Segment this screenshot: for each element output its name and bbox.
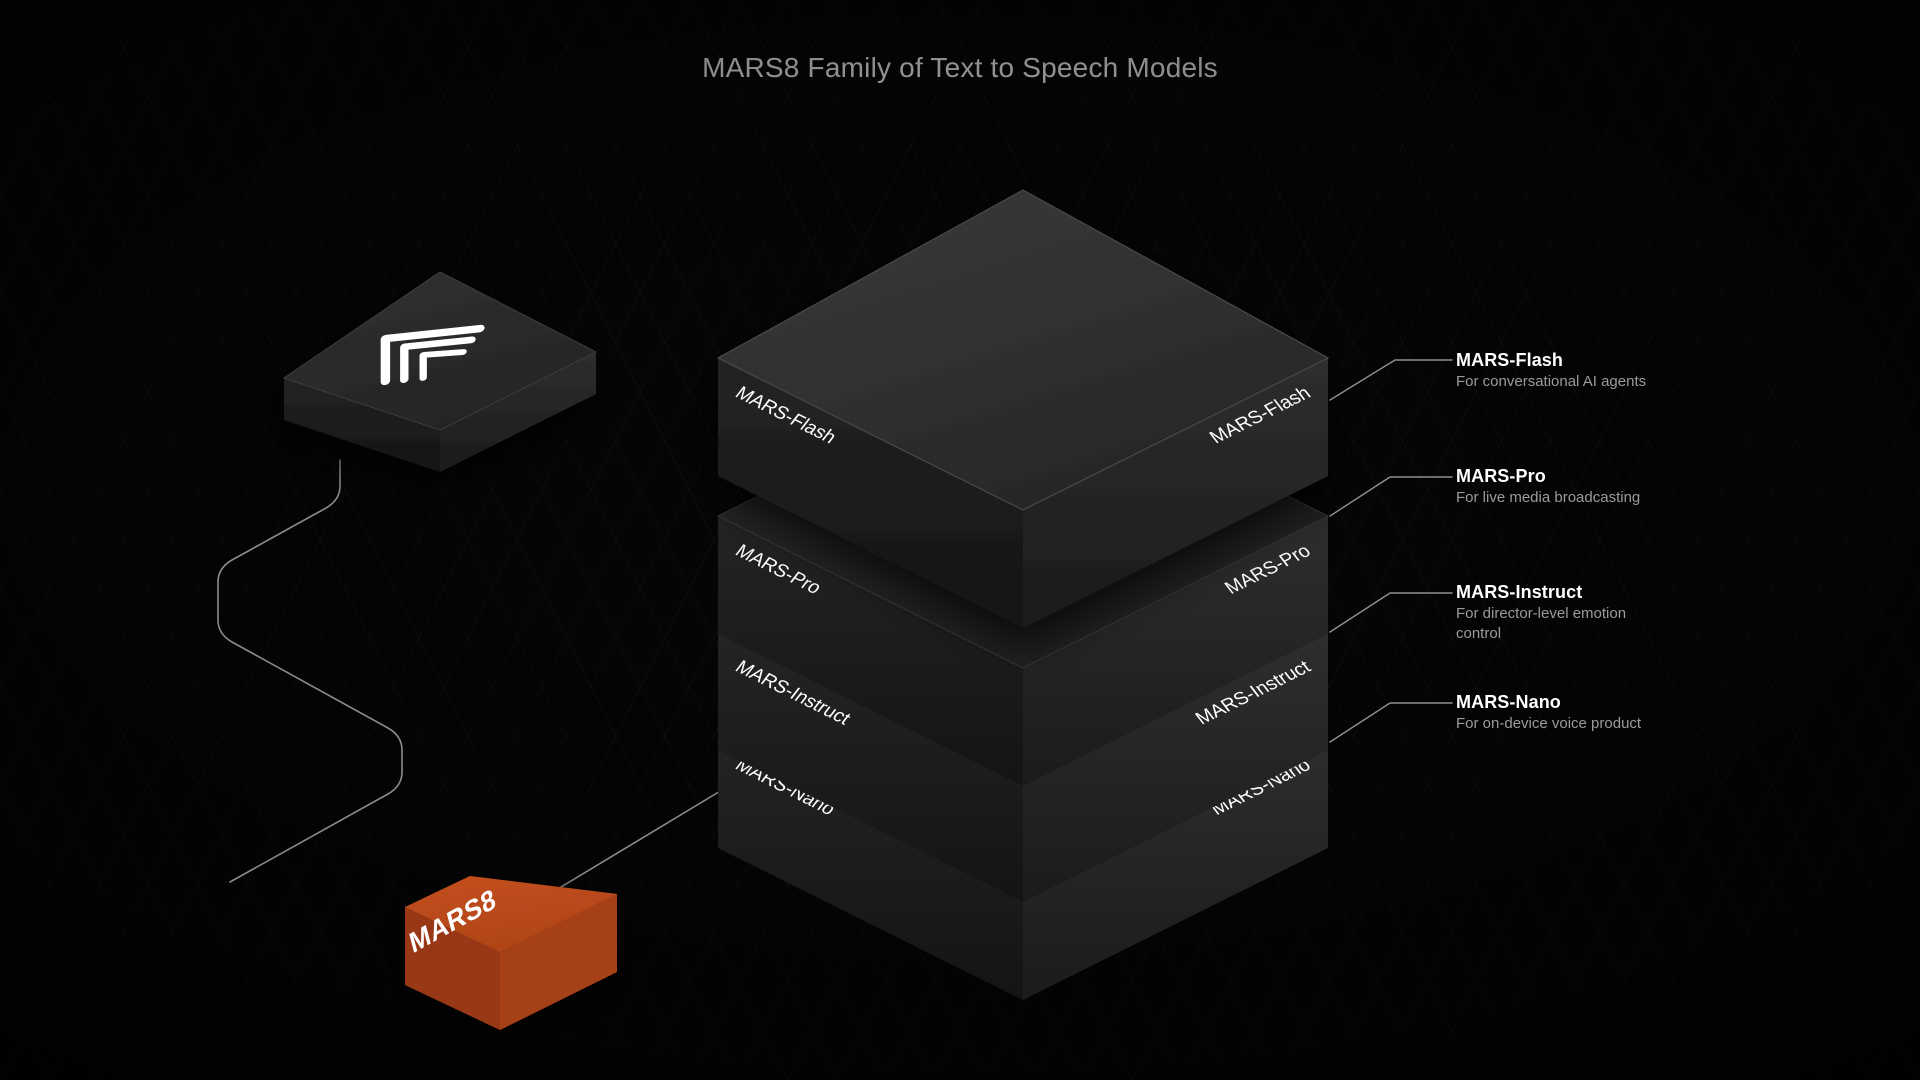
callout-flash[interactable]: MARS-Flash For conversational AI agents <box>1456 348 1646 392</box>
callout-line-instruct <box>1330 593 1452 632</box>
callout-pro-title: MARS-Pro <box>1456 464 1640 488</box>
callout-instruct[interactable]: MARS-Instruct For director-level emotion… <box>1456 580 1656 644</box>
callout-line-nano <box>1330 703 1452 742</box>
diagram-canvas: MARS8 Family of Text to Speech Models <box>0 0 1920 1080</box>
callout-leader-lines <box>0 0 1920 1080</box>
callout-flash-title: MARS-Flash <box>1456 348 1646 372</box>
callout-line-flash <box>1330 360 1452 400</box>
callout-pro-desc: For live media broadcasting <box>1456 488 1640 508</box>
callout-pro[interactable]: MARS-Pro For live media broadcasting <box>1456 464 1640 508</box>
callout-line-pro <box>1330 477 1452 516</box>
callout-instruct-title: MARS-Instruct <box>1456 580 1656 604</box>
callout-nano[interactable]: MARS-Nano For on-device voice product <box>1456 690 1641 734</box>
callout-nano-desc: For on-device voice product <box>1456 714 1641 734</box>
callout-flash-desc: For conversational AI agents <box>1456 372 1646 392</box>
callout-nano-title: MARS-Nano <box>1456 690 1641 714</box>
callout-instruct-desc: For director-level emotion control <box>1456 604 1656 644</box>
